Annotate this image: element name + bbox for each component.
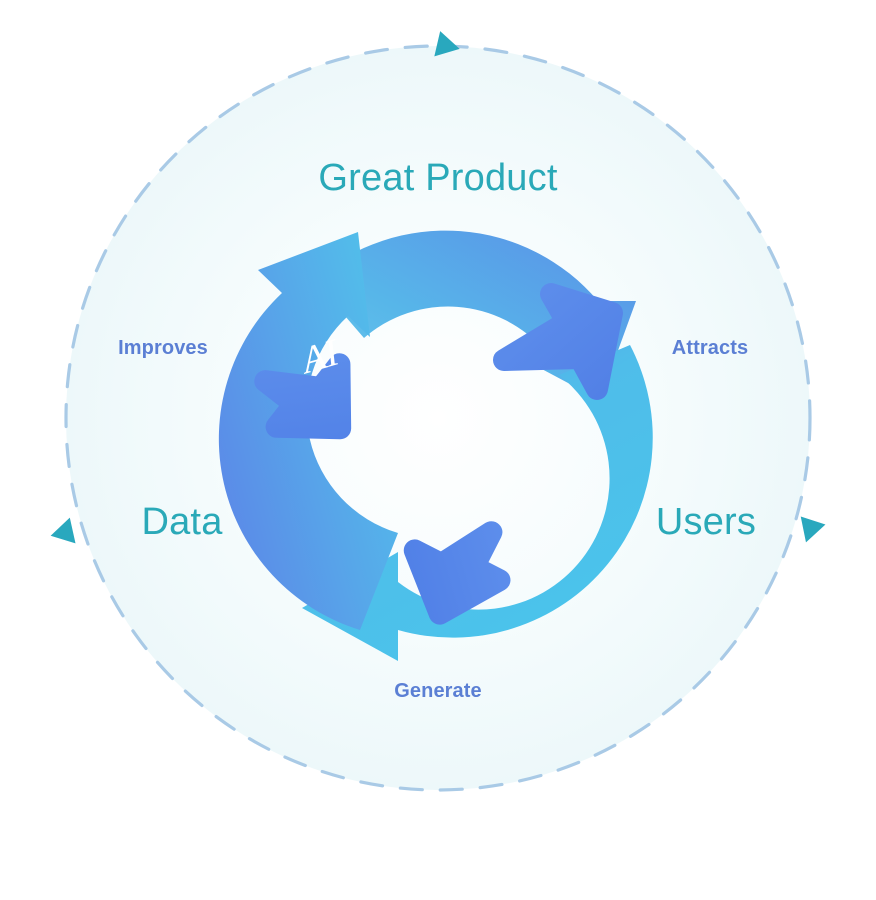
marker-left-icon xyxy=(51,514,83,544)
flywheel-diagram-svg: AI xyxy=(0,0,876,900)
label-great-product: Great Product xyxy=(318,159,557,197)
label-generate: Generate xyxy=(394,681,482,701)
label-users: Users xyxy=(656,503,756,541)
marker-right-icon xyxy=(794,516,826,546)
label-data: Data xyxy=(141,503,222,541)
label-improves: Improves xyxy=(118,338,208,358)
label-attracts: Attracts xyxy=(672,338,748,358)
diagram-canvas: AI Great Product Users Data Attracts Gen… xyxy=(0,0,876,900)
outer-cycle-group xyxy=(51,31,826,790)
